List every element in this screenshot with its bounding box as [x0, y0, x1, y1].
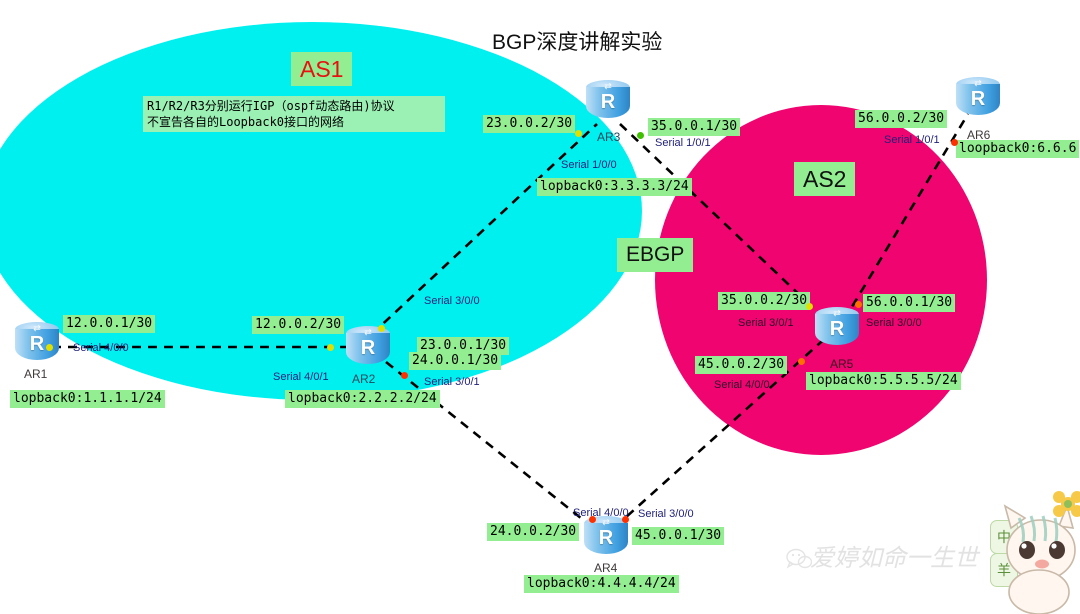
iface-port-ar2-s301: Serial 3/0/1: [424, 376, 480, 388]
router-label-ar3: AR3: [597, 131, 620, 144]
cat-mascot-illustration: [955, 488, 1080, 614]
link-dot-ar2-west: [327, 344, 334, 351]
router-label-ar5: AR5: [830, 358, 853, 371]
as1-zone-label: AS1: [291, 52, 352, 86]
iface-port-ar5-s301: Serial 3/0/1: [738, 317, 794, 329]
link-dot-ar2-south: [401, 372, 408, 379]
router-glyph: R: [814, 318, 860, 340]
iface-ip-ar5-s300: 56.0.0.1/30: [863, 294, 955, 312]
iface-port-ar1-s400: Serial 4/0/0: [73, 342, 129, 354]
router-ar4[interactable]: ⇄ R: [583, 516, 629, 562]
router-ar2[interactable]: ⇄ R: [345, 326, 391, 372]
link-dot-ar6: [951, 139, 958, 146]
link-dot-ar5-sw: [798, 358, 805, 365]
iface-ip-ar5-s400: 45.0.0.2/30: [695, 356, 787, 374]
iface-port-ar4-s400: Serial 4/0/0: [573, 507, 629, 519]
iface-ip-ar6-s101: 56.0.0.2/30: [855, 110, 947, 128]
router-ar5[interactable]: ⇄ R: [814, 307, 860, 353]
link-dot-ar2-north: [378, 325, 385, 332]
router-glyph: R: [955, 88, 1001, 110]
iface-port-ar4-s300: Serial 3/0/0: [638, 508, 694, 520]
router-glyph: R: [585, 91, 631, 113]
iface-port-ar2-s300: Serial 3/0/0: [424, 295, 480, 307]
router-glyph: R: [14, 333, 60, 355]
page-title: BGP深度讲解实验: [492, 30, 662, 56]
iface-port-ar5-s300: Serial 3/0/0: [866, 317, 922, 329]
router-ar1[interactable]: ⇄ R: [14, 322, 60, 368]
link-dot-ar4-west: [589, 516, 596, 523]
ebgp-peering-label: EBGP: [617, 238, 693, 272]
loopback-ar2: lopback0:2.2.2.2/24: [285, 390, 440, 408]
as2-zone-label: AS2: [794, 162, 855, 196]
igp-note-line-1: R1/R2/R3分别运行IGP（ospf动态路由)协议: [147, 98, 441, 114]
loopback-ar5: lopback0:5.5.5.5/24: [806, 372, 961, 390]
link-dot-ar3-east: [637, 132, 644, 139]
iface-port-ar3-s100: Serial 1/0/0: [561, 159, 617, 171]
link-dot-ar3-west: [575, 130, 582, 137]
iface-ip-ar3-s100: 23.0.0.2/30: [483, 115, 575, 133]
link-dot-ar1: [46, 344, 53, 351]
iface-ip-ar4-s300: 45.0.0.1/30: [632, 527, 724, 545]
iface-ip-ar2-s301: 24.0.0.1/30: [409, 352, 501, 370]
router-label-ar1: AR1: [24, 368, 47, 381]
iface-port-ar3-s101: Serial 1/0/1: [655, 137, 711, 149]
watermark-text: 爱婷如命一生世: [810, 545, 978, 573]
iface-ip-ar1-s400: 12.0.0.1/30: [63, 315, 155, 333]
wechat-logo-icon: [786, 548, 812, 570]
link-dot-ar5-nw: [806, 303, 813, 310]
link-dot-ar5-ne: [855, 301, 862, 308]
router-glyph: R: [345, 337, 391, 359]
iface-ip-ar4-s400: 24.0.0.2/30: [487, 523, 579, 541]
link-dot-ar4-east: [622, 516, 629, 523]
iface-port-ar6-s101: Serial 1/0/1: [884, 134, 940, 146]
iface-ip-ar3-s101: 35.0.0.1/30: [648, 118, 740, 136]
igp-note-line-2: 不宣告各自的Loopback0接口的网络: [147, 114, 441, 130]
iface-ip-ar2-s401: 12.0.0.2/30: [252, 316, 344, 334]
iface-port-ar5-s400: Serial 4/0/0: [714, 379, 770, 391]
router-label-ar4: AR4: [594, 562, 617, 575]
loopback-ar1: lopback0:1.1.1.1/24: [10, 390, 165, 408]
loopback-ar6: loopback0:6.6.6: [956, 140, 1079, 158]
loopback-ar3: lopback0:3.3.3.3/24: [537, 178, 692, 196]
loopback-ar4: lopback0:4.4.4.4/24: [524, 575, 679, 593]
iface-ip-ar5-s301: 35.0.0.2/30: [718, 292, 810, 310]
iface-port-ar2-s401: Serial 4/0/1: [273, 371, 329, 383]
network-diagram-canvas: BGP深度讲解实验 AS1 AS2 EBGP R1/R2/R3分别运行IGP（o…: [0, 0, 1080, 614]
router-glyph: R: [583, 527, 629, 549]
router-label-ar2: AR2: [352, 373, 375, 386]
router-ar6[interactable]: ⇄ R: [955, 77, 1001, 123]
link-ar2-ar4: [386, 362, 592, 527]
link-ar2-ar3: [372, 124, 597, 334]
router-ar3[interactable]: ⇄ R: [585, 80, 631, 126]
igp-note-box: R1/R2/R3分别运行IGP（ospf动态路由)协议 不宣告各自的Loopba…: [143, 96, 445, 132]
